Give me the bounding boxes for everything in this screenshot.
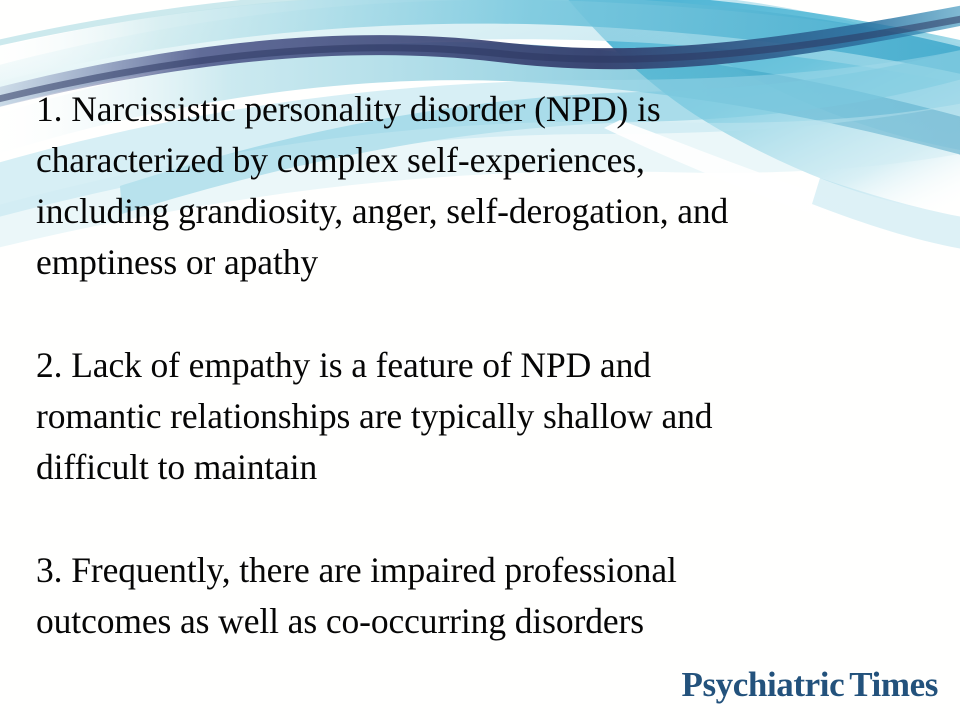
slide-canvas: 1. Narcissistic personality disorder (NP…	[0, 0, 960, 720]
bullet-paragraph-1: 1. Narcissistic personality disorder (NP…	[36, 84, 920, 288]
logo-word-psychiatric: Psychiatric	[681, 667, 844, 702]
psychiatric-times-logo: Psychiatric Times	[681, 667, 938, 702]
logo-word-times: Times	[849, 667, 938, 702]
slide-body: 1. Narcissistic personality disorder (NP…	[36, 84, 920, 647]
bullet-paragraph-3: 3. Frequently, there are impaired profes…	[36, 545, 920, 647]
bullet-paragraph-2: 2. Lack of empathy is a feature of NPD a…	[36, 340, 920, 493]
